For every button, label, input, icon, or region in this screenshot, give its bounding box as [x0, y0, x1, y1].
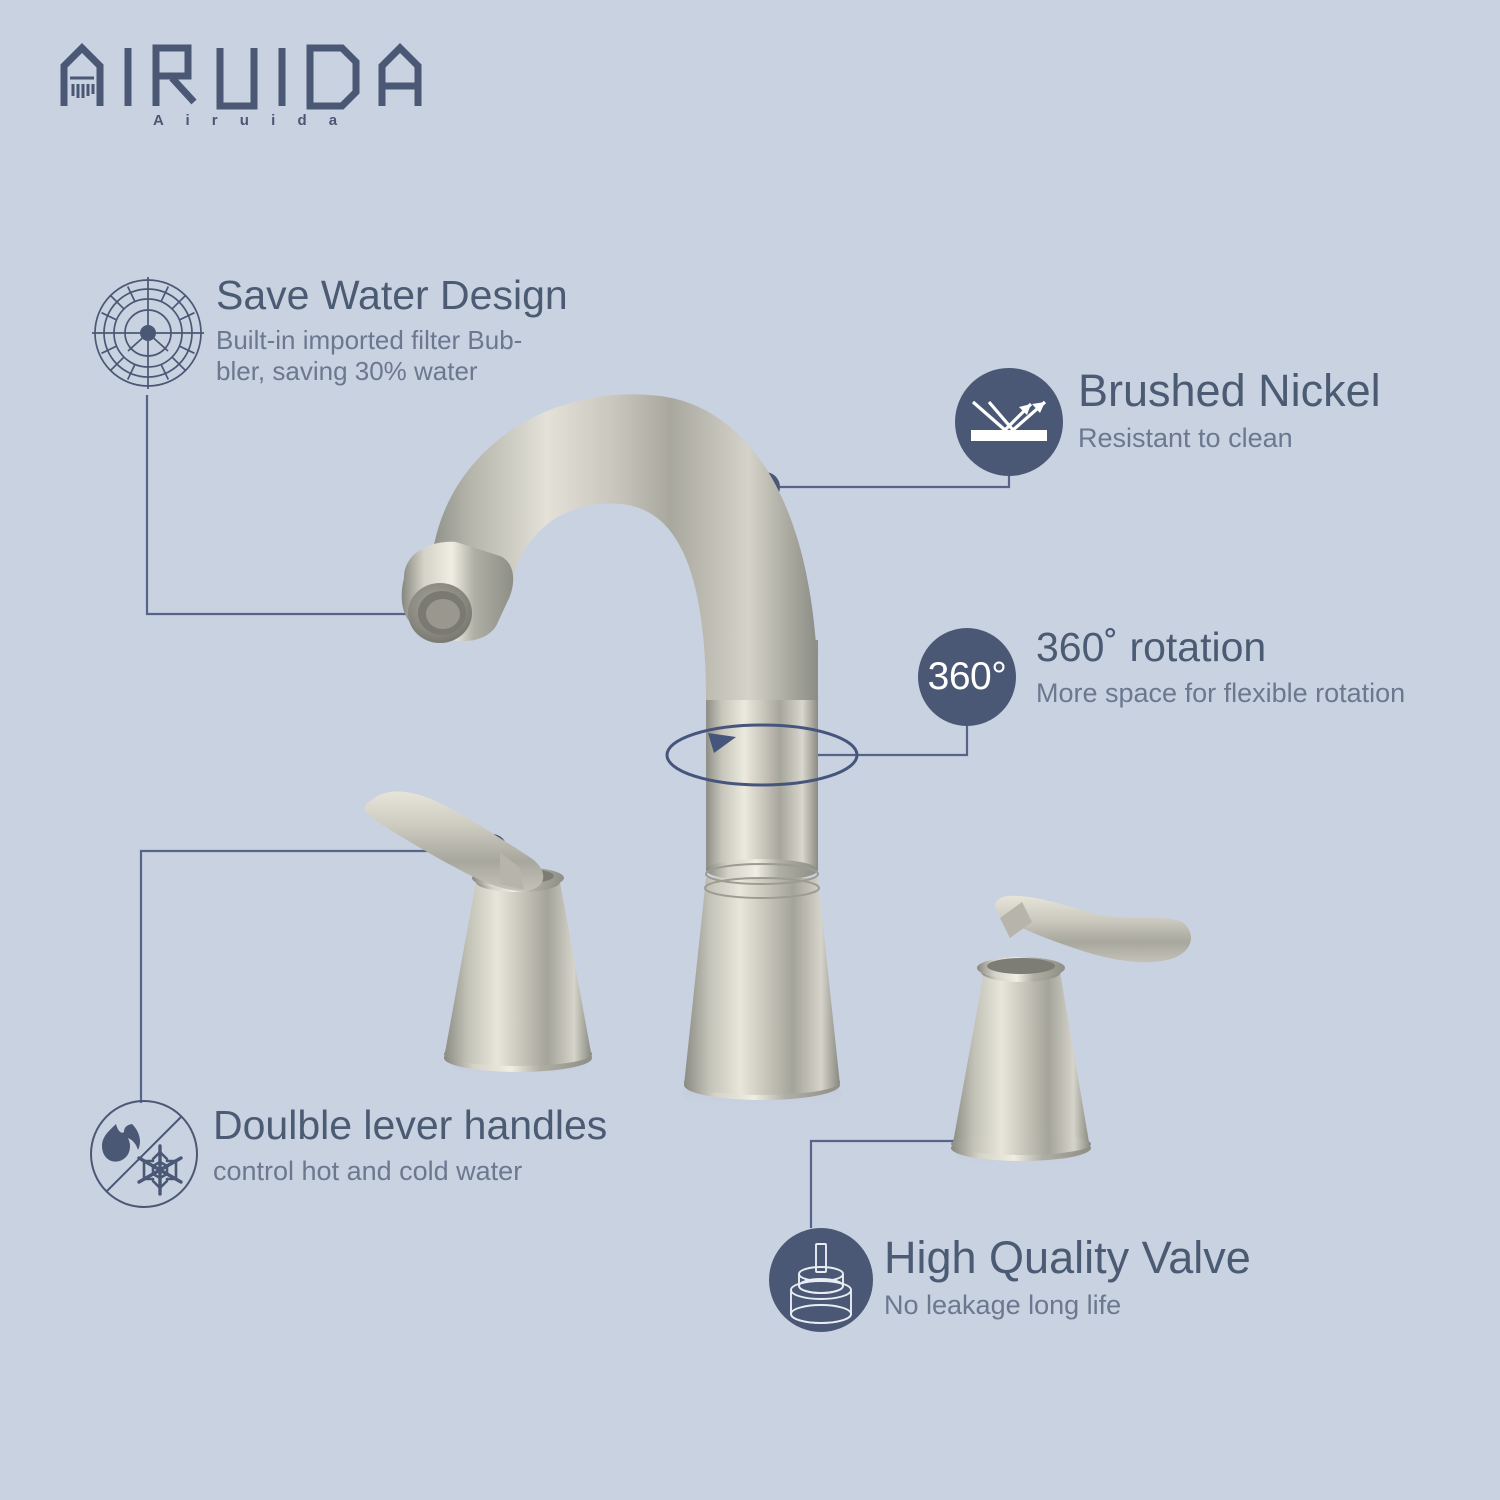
callout-rotation-sub: More space for flexible rotation	[1036, 678, 1405, 710]
light-reflection-icon	[955, 368, 1063, 476]
360-badge-label: 360°	[928, 655, 1007, 699]
spout-outlet	[402, 542, 514, 643]
aerator-screen-icon	[92, 277, 204, 389]
callout-save-water-sub: Built-in imported filter Bub-bler, savin…	[216, 325, 566, 386]
callout-save-water: Save Water Design Built-in imported filt…	[216, 275, 568, 386]
left-handle	[364, 791, 592, 1072]
cartridge-valve-icon	[769, 1228, 873, 1332]
callout-valve: High Quality Valve No leakage long life	[884, 1235, 1251, 1322]
callout-brushed-nickel: Brushed Nickel Resistant to clean	[1078, 368, 1381, 455]
right-handle	[951, 896, 1191, 1161]
callout-brushed-nickel-sub: Resistant to clean	[1078, 423, 1381, 455]
callout-lever-handles: Doulble lever handles control hot and co…	[213, 1105, 607, 1188]
faucet-illustration	[0, 0, 1500, 1500]
callout-save-water-title: Save Water Design	[216, 275, 568, 316]
callout-valve-title: High Quality Valve	[884, 1235, 1251, 1280]
callout-rotation-title: 360˚ rotation	[1036, 627, 1405, 668]
callout-rotation: 360˚ rotation More space for flexible ro…	[1036, 627, 1405, 710]
callout-lever-handles-sub: control hot and cold water	[213, 1156, 607, 1188]
360-badge: 360°	[918, 628, 1016, 726]
hot-cold-icon	[88, 1098, 200, 1210]
callout-lever-handles-title: Doulble lever handles	[213, 1105, 607, 1146]
infographic-canvas: A i r u i d a	[0, 0, 1500, 1500]
callout-valve-sub: No leakage long life	[884, 1290, 1251, 1322]
callout-brushed-nickel-title: Brushed Nickel	[1078, 368, 1381, 413]
